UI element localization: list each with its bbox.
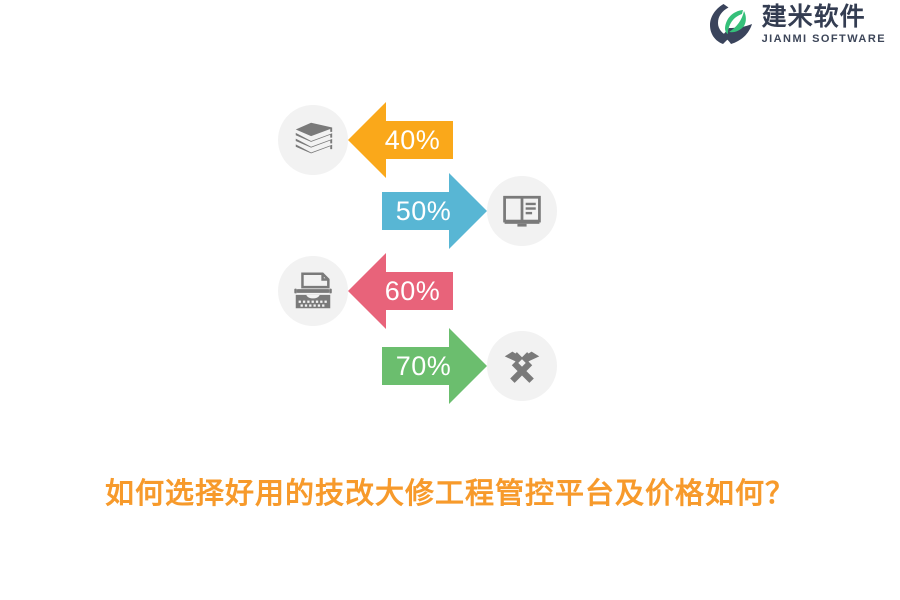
percentage-flow-diagram: 40% 50% bbox=[0, 86, 900, 416]
page-title: 如何选择好用的技改大修工程管控平台及价格如何？ bbox=[0, 470, 900, 512]
arrow-label: 60% bbox=[385, 278, 441, 305]
arrow-label: 50% bbox=[396, 198, 452, 225]
books-icon-bubble bbox=[278, 105, 348, 175]
brand-text-group: 建米软件 JIANMI SOFTWARE bbox=[762, 4, 886, 45]
flow-row: 40% bbox=[278, 102, 453, 178]
brand-name-en: JIANMI SOFTWARE bbox=[762, 34, 886, 45]
arrow-60-percent: 60% bbox=[348, 253, 453, 329]
hammers-icon-bubble bbox=[487, 331, 557, 401]
open-book-icon bbox=[500, 189, 544, 233]
hammers-icon bbox=[499, 343, 545, 389]
typewriter-icon-bubble bbox=[278, 256, 348, 326]
jianmi-logo-mark-icon bbox=[709, 3, 753, 45]
arrow-70-percent: 70% bbox=[382, 328, 487, 404]
books-icon bbox=[290, 117, 336, 163]
arrow-label: 40% bbox=[385, 127, 441, 154]
arrow-50-percent: 50% bbox=[382, 173, 487, 249]
brand-name-cn: 建米软件 bbox=[762, 4, 886, 29]
typewriter-icon bbox=[290, 268, 336, 314]
open-book-icon-bubble bbox=[487, 176, 557, 246]
flow-row: 50% bbox=[382, 173, 557, 249]
flow-row: 60% bbox=[278, 253, 453, 329]
arrow-40-percent: 40% bbox=[348, 102, 453, 178]
brand-logo: 建米软件 JIANMI SOFTWARE bbox=[709, 0, 886, 48]
flow-row: 70% bbox=[382, 328, 557, 404]
arrow-label: 70% bbox=[396, 353, 452, 380]
